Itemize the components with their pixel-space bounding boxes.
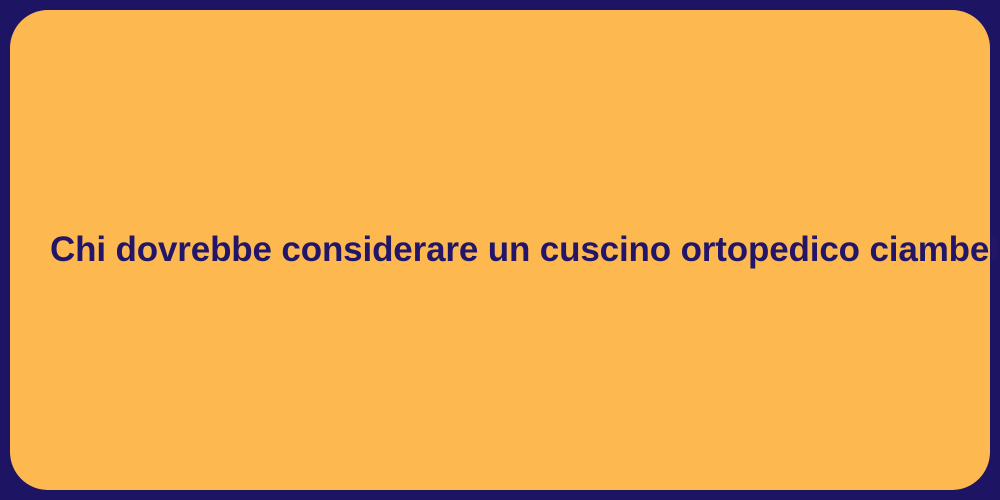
question-card: Chi dovrebbe considerare un cuscino orto… [10,10,990,490]
card-body: Chi dovrebbe considerare un cuscino orto… [10,228,990,272]
card-headline: Chi dovrebbe considerare un cuscino orto… [50,228,950,272]
screenshot-root: Chi dovrebbe considerare un cuscino orto… [0,0,1000,500]
